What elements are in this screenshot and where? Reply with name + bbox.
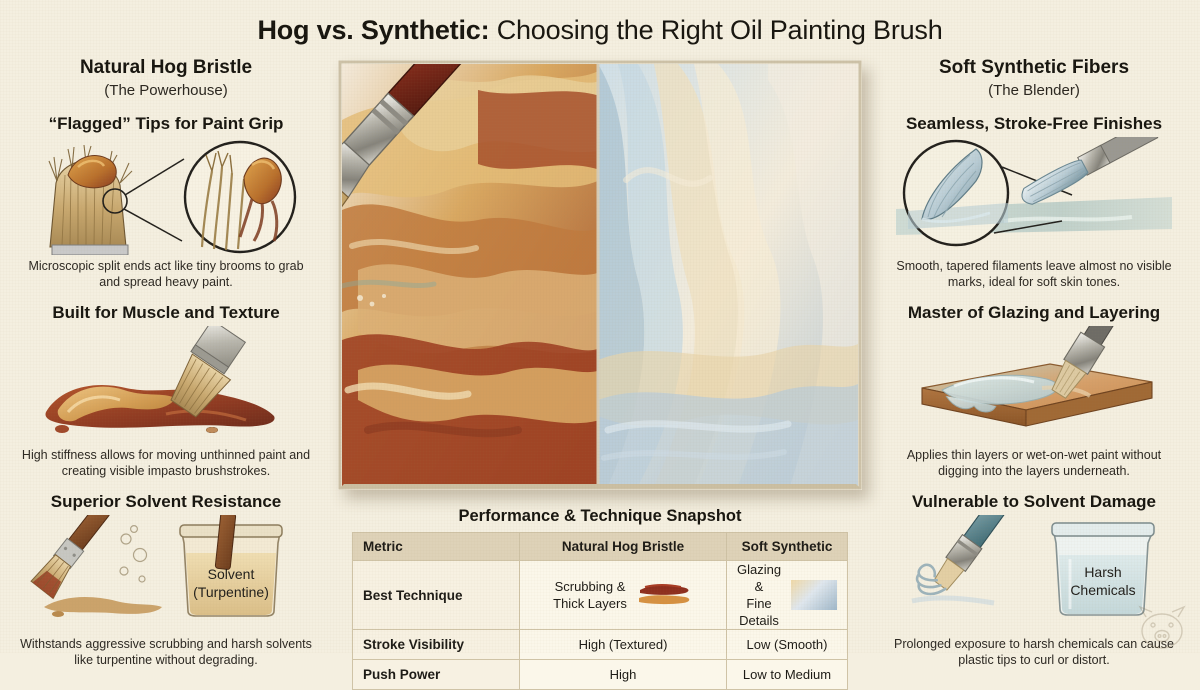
right-section-seamless-finish: Seamless, Stroke-Free Finishes (884, 113, 1184, 290)
row-synthetic-value: Low to Medium (727, 660, 848, 690)
hog-technique-line2: Thick Layers (553, 595, 627, 612)
solvent-jar-label-line1: Solvent (208, 566, 255, 582)
right-section-3-title: Vulnerable to Solvent Damage (884, 491, 1184, 513)
page-title: Hog vs. Synthetic: Choosing the Right Oi… (0, 14, 1200, 46)
table-row-stroke-visibility: Stroke Visibility High (Textured) Low (S… (353, 630, 848, 660)
right-section-1-title: Seamless, Stroke-Free Finishes (884, 113, 1184, 135)
left-section-muscle-texture: Built for Muscle and Texture (16, 302, 316, 479)
row-hog-value: High (Textured) (520, 630, 727, 660)
hog-technique-line1: Scrubbing & (553, 578, 627, 595)
right-section-glazing-layering: Master of Glazing and Layering (884, 302, 1184, 479)
cool-gradient-swatch (791, 580, 837, 610)
right-section-2-caption: Applies thin layers or wet-on-wet paint … (884, 448, 1184, 479)
table-col-metric: Metric (353, 533, 520, 561)
row-metric-label: Best Technique (353, 561, 520, 630)
left-section-1-caption: Microscopic split ends act like tiny bro… (16, 259, 316, 290)
left-section-2-title: Built for Muscle and Texture (16, 302, 316, 324)
page-title-light: Choosing the Right Oil Painting Brush (489, 15, 942, 45)
canvas-drop-shadow (338, 60, 862, 490)
row-hog-value: Scrubbing & Thick Layers (520, 561, 727, 630)
left-column-subheading: (The Powerhouse) (16, 81, 316, 101)
right-column-synthetic: Soft Synthetic Fibers (The Blender) Seam… (884, 56, 1184, 668)
right-column-subheading: (The Blender) (884, 81, 1184, 101)
table-row-push-power: Push Power High Low to Medium (353, 660, 848, 690)
row-metric-label: Stroke Visibility (353, 630, 520, 660)
table-title: Performance & Technique Snapshot (352, 505, 848, 527)
impasto-paint-brush-illustration (16, 326, 316, 444)
left-section-3-title: Superior Solvent Resistance (16, 491, 316, 513)
glazing-layer-panel-illustration (884, 326, 1184, 444)
infographic-page: Hog vs. Synthetic: Choosing the Right Oi… (0, 0, 1200, 653)
row-synthetic-value: Glazing & Fine Details (727, 561, 848, 630)
left-section-2-caption: High stiffness allows for moving unthinn… (16, 448, 316, 479)
row-synthetic-value: Low (Smooth) (727, 630, 848, 660)
table-header-row: Metric Natural Hog Bristle Soft Syntheti… (353, 533, 848, 561)
performance-table-block: Performance & Technique Snapshot Metric … (352, 505, 848, 690)
right-section-1-caption: Smooth, tapered filaments leave almost n… (884, 259, 1184, 290)
table-row-best-technique: Best Technique Scrubbing & Thick Layers (353, 561, 848, 630)
pig-watermark (1130, 603, 1194, 651)
syn-technique-line1: Glazing & (737, 561, 781, 595)
table-col-hog: Natural Hog Bristle (520, 533, 727, 561)
left-section-flagged-tips: “Flagged” Tips for Paint Grip (16, 113, 316, 290)
left-column-hog: Natural Hog Bristle (The Powerhouse) “Fl… (16, 56, 316, 668)
warm-paint-swatch (637, 581, 693, 609)
table-col-synthetic: Soft Synthetic (727, 533, 848, 561)
syn-technique-line2: Fine Details (737, 595, 781, 629)
flagged-bristle-tips-illustration (16, 137, 316, 255)
row-metric-label: Push Power (353, 660, 520, 690)
right-column-heading: Soft Synthetic Fibers (884, 56, 1184, 80)
split-canvas-brush-comparison (338, 60, 862, 490)
left-column-heading: Natural Hog Bristle (16, 56, 316, 80)
solvent-jar-label-line2: (Turpentine) (193, 584, 269, 600)
left-section-1-title: “Flagged” Tips for Paint Grip (16, 113, 316, 135)
row-hog-value: High (520, 660, 727, 690)
chemicals-jar-label-line1: Harsh (1084, 564, 1121, 580)
performance-technique-table: Metric Natural Hog Bristle Soft Syntheti… (352, 532, 848, 690)
tapered-filament-magnifier-illustration (884, 137, 1184, 255)
solvent-jar-illustration: Solvent (Turpentine) (16, 515, 316, 633)
chemicals-jar-label-line2: Chemicals (1070, 582, 1135, 598)
page-title-bold: Hog vs. Synthetic: (257, 15, 489, 45)
left-section-solvent-resistance: Superior Solvent Resistance (16, 491, 316, 668)
right-section-2-title: Master of Glazing and Layering (884, 302, 1184, 324)
